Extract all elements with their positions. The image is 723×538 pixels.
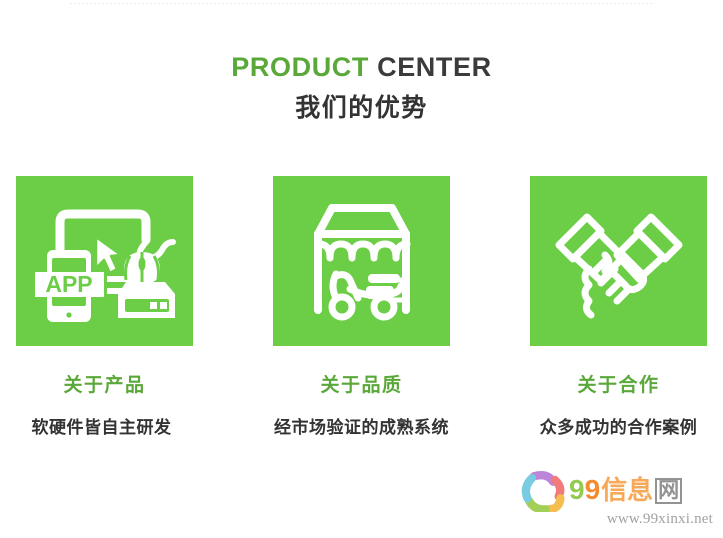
feature-title: 关于产品 (16, 374, 193, 398)
watermark-url: www.99xinxi.net (517, 511, 717, 528)
feature-icon-box (273, 176, 450, 346)
feature-columns: APP 关于产品 软硬件皆自主研发 (16, 176, 707, 440)
feature-column-cooperation: 关于合作 众多成功的合作案例 (530, 176, 707, 440)
feature-icon-box: APP (16, 176, 193, 346)
feature-icon-box (530, 176, 707, 346)
watermark-digit-two: 9 (585, 475, 601, 505)
top-divider (70, 3, 655, 4)
app-icon-label: APP (45, 271, 92, 297)
feature-title: 关于品质 (273, 374, 450, 398)
watermark-digit-one: 9 (569, 475, 585, 505)
feature-title: 关于合作 (530, 374, 707, 398)
watermark-name: 信息 (601, 475, 653, 505)
watermark-name-box: 网 (655, 478, 682, 504)
feature-description: 众多成功的合作案例 (530, 416, 707, 440)
page-title-primary: PRODUCT (231, 52, 369, 82)
feature-description: 软硬件皆自主研发 (10, 416, 193, 440)
feature-column-product: APP 关于产品 软硬件皆自主研发 (16, 176, 193, 440)
feature-description: 经市场验证的成熟系统 (273, 416, 450, 440)
feature-column-quality: 关于品质 经市场验证的成熟系统 (273, 176, 450, 440)
page-heading: PRODUCT CENTER 我们的优势 (0, 50, 723, 124)
page-title: PRODUCT CENTER (0, 50, 723, 84)
handshake-icon (549, 197, 689, 325)
page-title-secondary: CENTER (377, 52, 492, 82)
app-device-development-icon: APP (30, 196, 180, 326)
page-subtitle: 我们的优势 (0, 92, 723, 124)
storefront-delivery-scooter-icon (292, 194, 432, 328)
pinwheel-logo-icon (517, 468, 569, 512)
site-watermark: 9 9 信息 网 www.99xinxi.net (517, 470, 717, 532)
